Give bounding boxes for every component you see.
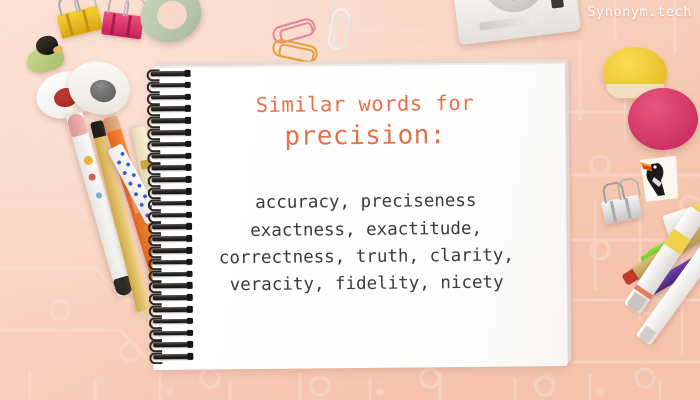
spiral-ring	[147, 152, 193, 159]
spiral-ring	[149, 270, 195, 277]
synonym-line: correctness, truth, clarity,	[219, 243, 514, 273]
spiral-ring	[149, 341, 195, 348]
spiral-ring	[148, 259, 194, 266]
spiral-ring	[147, 117, 193, 124]
bird-eraser	[20, 38, 66, 72]
spiral-ring	[148, 188, 194, 195]
site-logo: Synonym.tech	[587, 4, 692, 20]
spiral-ring	[147, 141, 193, 148]
spiral-ring	[148, 200, 194, 207]
spiral-ring	[147, 70, 193, 77]
washi-tape	[140, 0, 202, 42]
oval-eraser-grey	[68, 62, 130, 114]
spiral-ring	[149, 282, 195, 289]
spiral-ring	[148, 247, 194, 254]
macaron-pink	[628, 88, 698, 150]
spiral-ring	[149, 318, 195, 325]
page-content: Similar words for precision: accuracy, p…	[151, 64, 568, 370]
spiral-ring	[147, 82, 193, 89]
synonym-line: veracity, fidelity, nicety	[219, 270, 514, 300]
synonym-line: exactness, exactitude,	[218, 215, 513, 245]
spiral-ring	[149, 329, 195, 336]
spiral-ring	[148, 223, 194, 230]
spiral-ring	[148, 211, 194, 218]
synonym-list: accuracy, preciseness exactness, exactit…	[218, 188, 514, 300]
spiral-ring	[147, 105, 193, 112]
spiral-ring	[147, 93, 193, 100]
spiral-ring	[147, 164, 193, 171]
headword: precision:	[284, 119, 446, 154]
spiral-ring	[149, 306, 195, 313]
spiral-ring	[149, 294, 195, 301]
screenshot-stage: Synonym.tech	[0, 0, 700, 400]
spiral-ring	[147, 129, 193, 136]
spiral-ring	[148, 176, 194, 183]
spiral-ring	[149, 353, 195, 360]
notebook-card: Similar words for precision: accuracy, p…	[151, 64, 570, 372]
synonym-line: accuracy, preciseness	[218, 188, 513, 218]
spiral-binding	[147, 62, 214, 375]
page-title: Similar words for	[256, 91, 475, 119]
spiral-ring	[148, 235, 194, 242]
